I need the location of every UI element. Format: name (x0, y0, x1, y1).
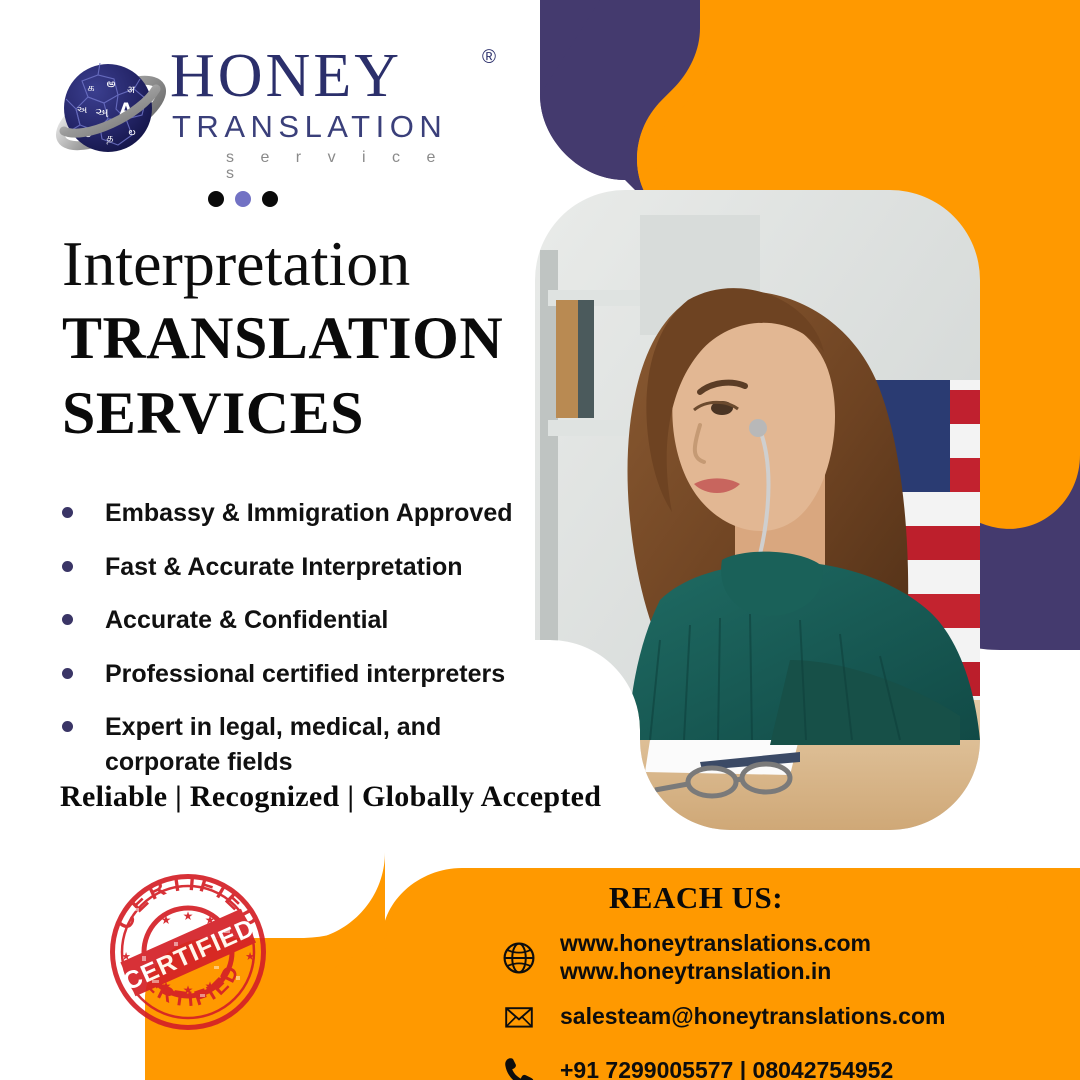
list-item: Accurate & Confidential (56, 603, 526, 638)
list-item: Expert in legal, medical, and corporate … (56, 710, 526, 779)
logo-subtitle: TRANSLATION (172, 111, 470, 142)
feature-text: Professional certified interpreters (105, 657, 505, 692)
bullet-point-icon (62, 668, 73, 679)
website-line-1[interactable]: www.honeytranslations.com (560, 930, 871, 958)
phone-line[interactable]: +91 7299005577 | 08042754952 (560, 1057, 893, 1080)
contact-row-website[interactable]: www.honeytranslations.com www.honeytrans… (486, 930, 1066, 985)
contact-row-email[interactable]: salesteam@honeytranslations.com (486, 995, 1066, 1039)
svg-text:★: ★ (245, 950, 255, 963)
svg-text:అ: అ (107, 77, 116, 90)
svg-text:★: ★ (121, 950, 131, 963)
headline-script-line: Interpretation (62, 232, 532, 296)
logo-wordmark: HONEY (170, 45, 402, 107)
bullet-point-icon (62, 561, 73, 572)
email-line[interactable]: salesteam@honeytranslations.com (560, 1003, 945, 1031)
svg-text:★: ★ (161, 913, 172, 927)
dot-1 (208, 191, 224, 207)
certified-stamp-icon: ★★★ ★★★ ★★ CERTIFIED CERTIFIED CERTIFIED (104, 868, 272, 1036)
contact-row-phone[interactable]: +91 7299005577 | 08042754952 (486, 1049, 1066, 1080)
feature-text: Fast & Accurate Interpretation (105, 550, 462, 585)
phone-text: +91 7299005577 | 08042754952 (560, 1057, 893, 1080)
bullet-point-icon (62, 721, 73, 732)
svg-text:અ: અ (77, 105, 88, 116)
list-item: Fast & Accurate Interpretation (56, 550, 526, 585)
reach-us-heading: REACH US: (486, 880, 906, 916)
page-title: Interpretation TRANSLATION SERVICES (62, 232, 532, 446)
dot-2 (235, 191, 251, 207)
svg-text:க: க (87, 81, 94, 94)
envelope-icon (496, 995, 542, 1039)
bullet-point-icon (62, 614, 73, 625)
decorative-dots (208, 191, 278, 207)
registered-trademark-icon: ® (482, 47, 496, 69)
poster-canvas: க అ अ અ અ A ర த ల HONEY ® TRANSLATION s … (0, 0, 1080, 1080)
svg-text:த: த (106, 131, 113, 144)
feature-list: Embassy & Immigration Approved Fast & Ac… (56, 496, 526, 798)
globe-languages-icon: க అ अ અ અ A ర த ల (52, 53, 170, 171)
website-text: www.honeytranslations.com www.honeytrans… (560, 930, 871, 985)
headline-main-line-1: TRANSLATION (62, 306, 532, 371)
svg-text:★: ★ (183, 909, 194, 923)
brand-logo[interactable]: க అ अ અ અ A ర த ల HONEY ® TRANSLATION s … (52, 45, 472, 175)
tagline: Reliable | Recognized | Globally Accepte… (60, 780, 601, 814)
dot-3 (262, 191, 278, 207)
svg-text:ల: ల (128, 127, 135, 138)
website-line-2[interactable]: www.honeytranslation.in (560, 958, 871, 986)
bullet-point-icon (62, 507, 73, 518)
svg-text:★: ★ (205, 913, 216, 927)
contact-section: REACH US: www.honeytranslations.com www.… (486, 880, 1066, 1080)
interpreter-photo (535, 190, 1025, 830)
email-text: salesteam@honeytranslations.com (560, 1003, 945, 1031)
logo-tertiary: s e r v i c e s (226, 150, 470, 182)
list-item: Professional certified interpreters (56, 657, 526, 692)
feature-text: Expert in legal, medical, and corporate … (105, 710, 465, 779)
phone-icon (496, 1049, 542, 1080)
svg-text:अ: अ (127, 85, 135, 96)
svg-text:અ: અ (95, 106, 109, 121)
feature-text: Accurate & Confidential (105, 603, 388, 638)
list-item: Embassy & Immigration Approved (56, 496, 526, 531)
feature-text: Embassy & Immigration Approved (105, 496, 513, 531)
globe-icon (496, 936, 542, 980)
headline-main-line-2: SERVICES (62, 381, 532, 446)
